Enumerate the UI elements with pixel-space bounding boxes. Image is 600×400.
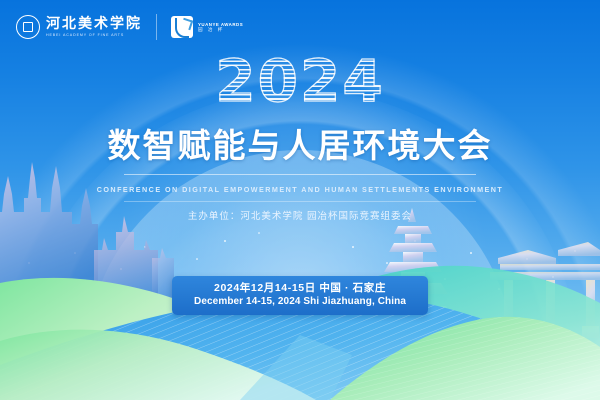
logo-primary-name-cn: 河北美术学院 (46, 17, 142, 31)
logo-divider (156, 14, 157, 40)
logo-yuanye-awards[interactable]: YUANYE AWARDS 园 冶 杯 (171, 16, 243, 38)
date-line-cn: 2024年12月14-15日 中国 · 石家庄 (194, 281, 406, 295)
year-block: 2024 (0, 52, 600, 110)
yuanye-award-badge-icon (171, 16, 193, 38)
organizer-line: 主办单位：河北美术学院 园冶杯国际竞赛组委会 (0, 208, 600, 222)
page-title: 数智赋能与人居环境大会 (0, 128, 600, 165)
divider-bottom (124, 201, 476, 202)
date-location-badge: 2024年12月14-15日 中国 · 石家庄 December 14-15, … (172, 276, 428, 315)
divider-top (124, 174, 476, 175)
circular-seal-icon (16, 15, 40, 39)
conference-banner: 河北美术学院 HEBEI ACADEMY OF FINE ARTS YUANYE… (0, 0, 600, 400)
date-line-en: December 14-15, 2024 Shi Jiazhuang, Chin… (194, 295, 406, 309)
logo-secondary-name-cn: 园 冶 杯 (198, 27, 243, 32)
logo-primary-name-en: HEBEI ACADEMY OF FINE ARTS (46, 34, 142, 38)
logo-hebei-academy[interactable]: 河北美术学院 HEBEI ACADEMY OF FINE ARTS (16, 15, 142, 39)
year-text: 2024 (211, 52, 388, 110)
logo-bar: 河北美术学院 HEBEI ACADEMY OF FINE ARTS YUANYE… (16, 14, 243, 40)
page-subtitle: CONFERENCE ON DIGITAL EMPOWERMENT AND HU… (97, 185, 503, 194)
subtitle-block: CONFERENCE ON DIGITAL EMPOWERMENT AND HU… (0, 174, 600, 202)
